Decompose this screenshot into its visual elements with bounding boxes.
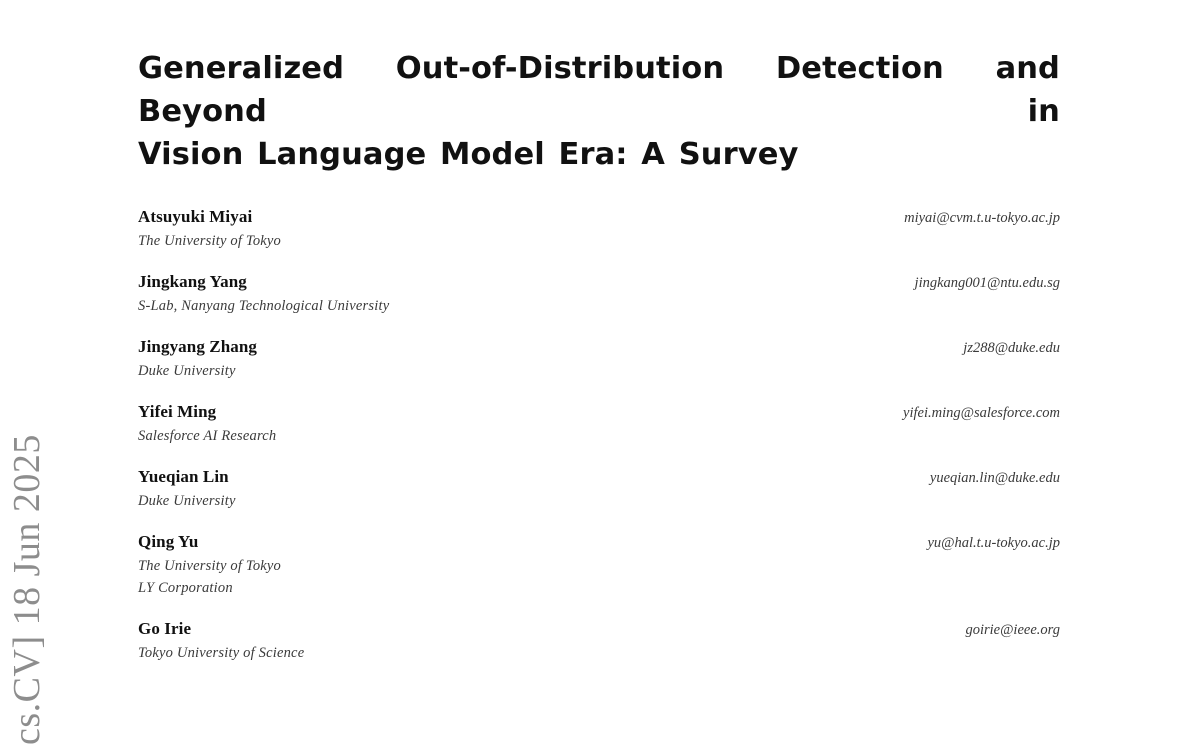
author-email[interactable]: yifei.ming@salesforce.com: [903, 405, 1060, 422]
author-block: Atsuyuki Miyai miyai@cvm.t.u-tokyo.ac.jp…: [138, 207, 1060, 252]
author-header-row: Atsuyuki Miyai miyai@cvm.t.u-tokyo.ac.jp: [138, 207, 1060, 227]
author-affiliation: Duke University: [138, 360, 1060, 382]
author-affiliation: The University of Tokyo: [138, 555, 1060, 577]
author-header-row: Yueqian Lin yueqian.lin@duke.edu: [138, 467, 1060, 487]
author-email[interactable]: miyai@cvm.t.u-tokyo.ac.jp: [904, 210, 1060, 227]
author-affiliation: Tokyo University of Science: [138, 642, 1060, 664]
author-name: Yifei Ming: [138, 402, 216, 422]
paper-content-column: Generalized Out-of-Distribution Detectio…: [138, 0, 1060, 684]
author-header-row: Jingkang Yang jingkang001@ntu.edu.sg: [138, 272, 1060, 292]
author-email[interactable]: jz288@duke.edu: [963, 340, 1060, 357]
author-block: Jingyang Zhang jz288@duke.edu Duke Unive…: [138, 337, 1060, 382]
author-affiliations: Duke University: [138, 490, 1060, 512]
author-header-row: Qing Yu yu@hal.t.u-tokyo.ac.jp: [138, 532, 1060, 552]
author-email[interactable]: yu@hal.t.u-tokyo.ac.jp: [927, 535, 1060, 552]
author-affiliations: The University of Tokyo: [138, 230, 1060, 252]
page-title: Generalized Out-of-Distribution Detectio…: [138, 47, 1060, 176]
author-name: Go Irie: [138, 619, 191, 639]
author-affiliation: Salesforce AI Research: [138, 425, 1060, 447]
author-affiliation: The University of Tokyo: [138, 230, 1060, 252]
author-affiliations: S-Lab, Nanyang Technological University: [138, 295, 1060, 317]
author-block: Go Irie goirie@ieee.org Tokyo University…: [138, 619, 1060, 664]
author-affiliation: LY Corporation: [138, 577, 1060, 599]
author-email[interactable]: yueqian.lin@duke.edu: [930, 470, 1060, 487]
author-affiliation: S-Lab, Nanyang Technological University: [138, 295, 1060, 317]
author-name: Atsuyuki Miyai: [138, 207, 252, 227]
author-affiliation: Duke University: [138, 490, 1060, 512]
author-affiliations: Tokyo University of Science: [138, 642, 1060, 664]
author-name: Jingyang Zhang: [138, 337, 257, 357]
author-header-row: Jingyang Zhang jz288@duke.edu: [138, 337, 1060, 357]
author-block: Jingkang Yang jingkang001@ntu.edu.sg S-L…: [138, 272, 1060, 317]
author-header-row: Yifei Ming yifei.ming@salesforce.com: [138, 402, 1060, 422]
arxiv-stamp-text: cs.CV] 18 Jun 2025: [8, 434, 46, 745]
author-list: Atsuyuki Miyai miyai@cvm.t.u-tokyo.ac.jp…: [138, 207, 1060, 664]
paper-title-line-1: Generalized Out-of-Distribution Detectio…: [138, 47, 1060, 133]
author-name: Qing Yu: [138, 532, 198, 552]
author-affiliations: Duke University: [138, 360, 1060, 382]
arxiv-identifier-stamp: cs.CV] 18 Jun 2025: [0, 325, 56, 745]
author-name: Jingkang Yang: [138, 272, 247, 292]
author-affiliations: The University of Tokyo LY Corporation: [138, 555, 1060, 599]
paper-title-line-2: Vision Language Model Era: A Survey: [138, 133, 1060, 176]
author-email[interactable]: jingkang001@ntu.edu.sg: [915, 275, 1060, 292]
author-affiliations: Salesforce AI Research: [138, 425, 1060, 447]
author-block: Yifei Ming yifei.ming@salesforce.com Sal…: [138, 402, 1060, 447]
author-block: Yueqian Lin yueqian.lin@duke.edu Duke Un…: [138, 467, 1060, 512]
author-block: Qing Yu yu@hal.t.u-tokyo.ac.jp The Unive…: [138, 532, 1060, 599]
author-name: Yueqian Lin: [138, 467, 229, 487]
author-email[interactable]: goirie@ieee.org: [965, 622, 1060, 639]
author-header-row: Go Irie goirie@ieee.org: [138, 619, 1060, 639]
